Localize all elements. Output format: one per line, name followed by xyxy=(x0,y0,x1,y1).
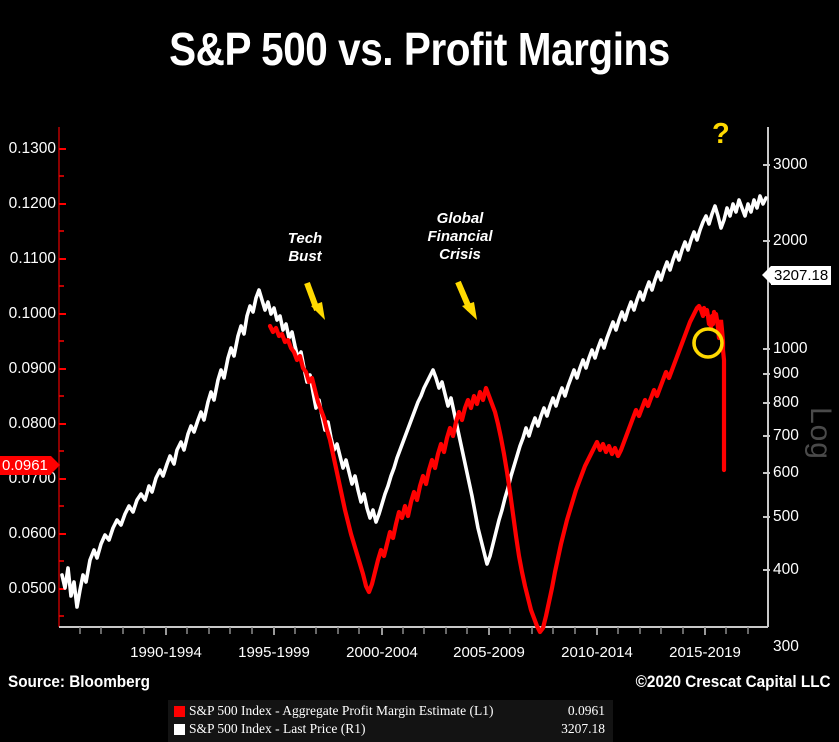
xlabel-4: 2010-2014 xyxy=(543,644,651,661)
xlabel-3: 2005-2009 xyxy=(435,644,543,661)
chart-page: S&P 500 vs. Profit Margins xyxy=(0,0,839,698)
legend-row: S&P 500 Index - Last Price (R1) 3207.18 xyxy=(174,720,605,738)
ytick-left-8: 0.0500 xyxy=(0,580,56,598)
last-value-highlight-circle xyxy=(694,329,722,357)
ytick-right-4: 800 xyxy=(773,394,799,412)
legend-value-price: 3207.18 xyxy=(561,721,605,737)
gfc-arrow-icon xyxy=(458,282,477,320)
legend-label-margin: S&P 500 Index - Aggregate Profit Margin … xyxy=(189,703,493,719)
plot-area: 0.1300 0.1200 0.1100 0.1000 0.0900 0.080… xyxy=(0,120,839,635)
log-scale-watermark: Log xyxy=(803,407,837,460)
ytick-left-3: 0.1000 xyxy=(0,305,56,323)
page-title: S&P 500 vs. Profit Margins xyxy=(50,22,788,76)
legend-swatch-price xyxy=(174,724,185,735)
annotation-tech-bust: Tech Bust xyxy=(268,230,342,266)
xlabel-0: 1990-1994 xyxy=(112,644,220,661)
ytick-right-3: 900 xyxy=(773,365,799,383)
annotation-gfc: Global Financial Crisis xyxy=(413,210,507,264)
ytick-right-2: 1000 xyxy=(773,340,807,358)
tech-bust-arrow-icon xyxy=(307,283,325,320)
x-axis-minor-ticks xyxy=(80,627,748,634)
chart-legend: S&P 500 Index - Aggregate Profit Margin … xyxy=(168,700,613,742)
copyright-label: ©2020 Crescat Capital LLC xyxy=(636,672,831,692)
ytick-left-7: 0.0600 xyxy=(0,525,56,543)
ytick-right-0: 3000 xyxy=(773,156,807,174)
ytick-left-4: 0.0900 xyxy=(0,360,56,378)
ytick-right-6: 600 xyxy=(773,464,799,482)
xlabel-5: 2015-2019 xyxy=(651,644,759,661)
left-value-callout: 0.0961 xyxy=(0,456,51,475)
ytick-right-9: 300 xyxy=(773,638,799,656)
series-margin-line xyxy=(270,306,720,632)
source-label: Source: Bloomberg xyxy=(8,672,150,692)
x-axis-group-separators xyxy=(166,627,705,635)
legend-label-price: S&P 500 Index - Last Price (R1) xyxy=(189,721,365,737)
ytick-right-8: 400 xyxy=(773,561,799,579)
right-value-callout: 3207.18 xyxy=(771,266,831,285)
legend-row: S&P 500 Index - Aggregate Profit Margin … xyxy=(174,702,605,720)
xlabel-2: 2000-2004 xyxy=(328,644,436,661)
legend-value-margin: 0.0961 xyxy=(568,703,605,719)
chart-svg xyxy=(0,120,839,635)
ytick-left-2: 0.1100 xyxy=(0,250,56,268)
ytick-right-5: 700 xyxy=(773,427,799,445)
ytick-left-0: 0.1300 xyxy=(0,140,56,158)
ytick-right-7: 500 xyxy=(773,508,799,526)
legend-swatch-margin xyxy=(174,706,185,717)
annotation-question-mark: ? xyxy=(712,118,730,151)
ytick-left-1: 0.1200 xyxy=(0,195,56,213)
left-axis-ticks xyxy=(59,149,66,589)
ytick-right-1: 2000 xyxy=(773,232,807,250)
xlabel-1: 1995-1999 xyxy=(220,644,328,661)
ytick-left-5: 0.0800 xyxy=(0,415,56,433)
